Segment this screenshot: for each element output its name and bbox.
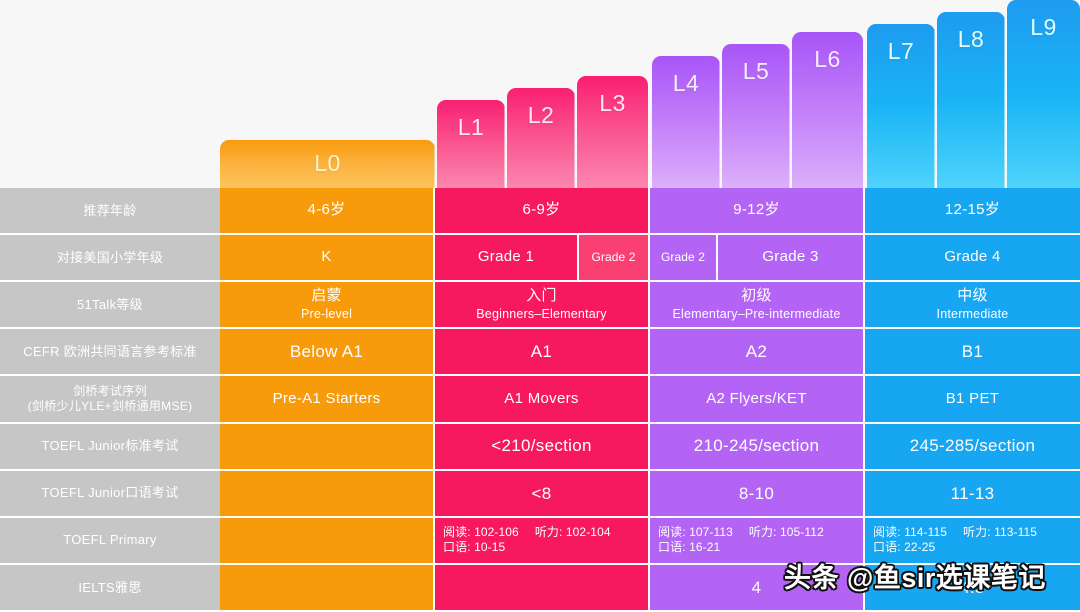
bar-l0: L0	[220, 140, 435, 188]
table-cell: Grade 3	[718, 235, 865, 282]
bar-label: L5	[743, 58, 770, 85]
bar-label: L3	[599, 90, 626, 117]
cell-subvalue: Beginners–Elementary	[476, 307, 606, 323]
table-cell: 245-285/section	[865, 424, 1080, 471]
row-cells: 44.5	[220, 565, 1080, 612]
row-label: 对接美国小学年级	[0, 235, 220, 282]
table-row: TOEFL Junior口语考试<88-1011-13	[0, 471, 1080, 518]
cell-value: 中级	[957, 287, 988, 306]
bar-label: L4	[673, 70, 700, 97]
bar-l7: L7	[867, 24, 935, 188]
row-label: IELTS雅思	[0, 565, 220, 612]
toefl-primary-speaking: 口语: 16-21	[658, 540, 720, 555]
cell-value: 11-13	[951, 483, 995, 504]
table-cell: 阅读: 114-115听力: 113-115口语: 22-25	[865, 518, 1080, 565]
cell-subvalue: Pre-level	[301, 307, 352, 323]
row-cells: <88-1011-13	[220, 471, 1080, 518]
bar-label: L1	[458, 114, 485, 141]
bar-label: L6	[814, 46, 841, 73]
toefl-primary-listening: 听力: 105-112	[749, 525, 824, 540]
table-cell: A2	[650, 329, 865, 376]
row-label: 推荐年龄	[0, 188, 220, 235]
row-cells: 4-6岁6-9岁9-12岁12-15岁	[220, 188, 1080, 235]
cell-subvalue: Elementary–Pre-intermediate	[673, 307, 841, 323]
level-comparison-infographic: L0L1L2L3L4L5L6L7L8L9 推荐年龄4-6岁6-9岁9-12岁12…	[0, 0, 1080, 612]
row-label: TOEFL Junior口语考试	[0, 471, 220, 518]
bar-label: L0	[314, 150, 341, 177]
toefl-primary-reading: 阅读: 107-113	[658, 525, 733, 540]
table-cell: 中级Intermediate	[865, 282, 1080, 329]
table-cell: 阅读: 107-113听力: 105-112口语: 16-21	[650, 518, 865, 565]
row-label-line: (剑桥少儿YLE+剑桥通用MSE)	[28, 399, 193, 414]
table-row: TOEFL Junior标准考试<210/section210-245/sect…	[0, 424, 1080, 471]
row-cells: 阅读: 102-106听力: 102-104口语: 10-15阅读: 107-1…	[220, 518, 1080, 565]
table-row: 剑桥考试序列(剑桥少儿YLE+剑桥通用MSE)Pre-A1 StartersA1…	[0, 376, 1080, 423]
table-cell: Grade 2	[579, 235, 650, 282]
table-cell: Grade 2	[650, 235, 718, 282]
table-cell: 8-10	[650, 471, 865, 518]
table-row: IELTS雅思44.5	[0, 565, 1080, 612]
bar-l2: L2	[507, 88, 575, 188]
row-label-line: 对接美国小学年级	[57, 250, 163, 266]
table-row: TOEFL Primary阅读: 102-106听力: 102-104口语: 1…	[0, 518, 1080, 565]
table-cell: A1 Movers	[435, 376, 650, 423]
row-label-line: IELTS雅思	[78, 580, 141, 596]
toefl-primary-reading: 阅读: 114-115	[873, 525, 947, 540]
cell-value: A1 Movers	[504, 390, 578, 409]
cell-value: 4.5	[960, 577, 985, 598]
table-cell: 4.5	[865, 565, 1080, 612]
cell-value: A2 Flyers/KET	[706, 390, 807, 409]
row-label-line: 51Talk等级	[77, 297, 143, 313]
table-cell: 启蒙Pre-level	[220, 282, 435, 329]
table-cell: 11-13	[865, 471, 1080, 518]
table-cell	[220, 565, 435, 612]
cell-value: Below A1	[290, 341, 363, 362]
row-cells: Below A1A1A2B1	[220, 329, 1080, 376]
cell-value: Pre-A1 Starters	[273, 390, 381, 409]
row-label-line: 推荐年龄	[83, 203, 136, 219]
cell-value: 8-10	[739, 483, 774, 504]
cell-value: 9-12岁	[733, 201, 780, 220]
table-cell: Grade 4	[865, 235, 1080, 282]
table-cell: A1	[435, 329, 650, 376]
table-row: CEFR 欧洲共同语言参考标准Below A1A1A2B1	[0, 329, 1080, 376]
row-cells: Pre-A1 StartersA1 MoversA2 Flyers/KETB1 …	[220, 376, 1080, 423]
cell-value: 入门	[526, 287, 557, 306]
bar-l9: L9	[1007, 0, 1080, 188]
table-cell: 4-6岁	[220, 188, 435, 235]
bar-l4: L4	[652, 56, 720, 188]
row-label-line: TOEFL Junior口语考试	[42, 485, 179, 501]
cell-value: Grade 2	[661, 250, 705, 265]
table-cell: Pre-A1 Starters	[220, 376, 435, 423]
cell-value: 4-6岁	[308, 201, 346, 220]
table-cell: A2 Flyers/KET	[650, 376, 865, 423]
row-label-line: CEFR 欧洲共同语言参考标准	[23, 344, 197, 360]
row-cells: 启蒙Pre-level入门Beginners–Elementary初级Eleme…	[220, 282, 1080, 329]
bar-label: L2	[528, 102, 555, 129]
table-cell: 12-15岁	[865, 188, 1080, 235]
table-cell: <210/section	[435, 424, 650, 471]
bar-label: L9	[1030, 14, 1057, 41]
cell-value: <8	[532, 483, 552, 504]
table-cell: 6-9岁	[435, 188, 650, 235]
table-row: 对接美国小学年级KGrade 1Grade 2Grade 2Grade 3Gra…	[0, 235, 1080, 282]
row-label: TOEFL Junior标准考试	[0, 424, 220, 471]
level-comparison-table: 推荐年龄4-6岁6-9岁9-12岁12-15岁对接美国小学年级KGrade 1G…	[0, 188, 1080, 612]
row-label: TOEFL Primary	[0, 518, 220, 565]
cell-value: 6-9岁	[523, 201, 561, 220]
table-cell: Grade 1	[435, 235, 579, 282]
table-cell: 初级Elementary–Pre-intermediate	[650, 282, 865, 329]
bar-l5: L5	[722, 44, 790, 188]
bar-l6: L6	[792, 32, 863, 188]
cell-value: 210-245/section	[694, 435, 819, 456]
table-row: 51Talk等级启蒙Pre-level入门Beginners–Elementar…	[0, 282, 1080, 329]
row-cells: KGrade 1Grade 2Grade 2Grade 3Grade 4	[220, 235, 1080, 282]
cell-subvalue: Intermediate	[937, 307, 1009, 323]
table-cell: B1	[865, 329, 1080, 376]
cell-value: 启蒙	[311, 287, 342, 306]
table-cell: Below A1	[220, 329, 435, 376]
table-cell: 4	[650, 565, 865, 612]
cell-value: 初级	[741, 287, 772, 306]
table-cell: K	[220, 235, 435, 282]
bar-label: L7	[888, 38, 915, 65]
toefl-primary-speaking: 口语: 22-25	[873, 540, 935, 555]
row-label-line: TOEFL Junior标准考试	[42, 438, 179, 454]
cell-value: K	[321, 248, 331, 267]
cell-value: Grade 3	[762, 248, 818, 267]
toefl-primary-speaking: 口语: 10-15	[443, 540, 505, 555]
table-cell: 210-245/section	[650, 424, 865, 471]
row-label-line: 剑桥考试序列	[28, 384, 193, 399]
cell-value: Grade 4	[944, 248, 1000, 267]
table-cell: 9-12岁	[650, 188, 865, 235]
table-cell	[220, 471, 435, 518]
table-cell: 入门Beginners–Elementary	[435, 282, 650, 329]
row-label: 剑桥考试序列(剑桥少儿YLE+剑桥通用MSE)	[0, 376, 220, 423]
table-cell: B1 PET	[865, 376, 1080, 423]
cell-value: <210/section	[491, 435, 591, 456]
cell-value: 12-15岁	[945, 201, 1000, 220]
toefl-primary-reading: 阅读: 102-106	[443, 525, 519, 540]
row-cells: <210/section210-245/section245-285/secti…	[220, 424, 1080, 471]
row-label: CEFR 欧洲共同语言参考标准	[0, 329, 220, 376]
cell-value: Grade 1	[478, 248, 534, 267]
bar-l1: L1	[437, 100, 505, 188]
cell-value: B1 PET	[946, 390, 1000, 409]
bar-label: L8	[958, 26, 985, 53]
table-cell	[220, 518, 435, 565]
cell-value: A1	[531, 341, 552, 362]
toefl-primary-listening: 听力: 113-115	[963, 525, 1037, 540]
table-cell: <8	[435, 471, 650, 518]
cell-value: A2	[746, 341, 767, 362]
bar-l8: L8	[937, 12, 1005, 188]
table-row: 推荐年龄4-6岁6-9岁9-12岁12-15岁	[0, 188, 1080, 235]
cell-value: 245-285/section	[910, 435, 1035, 456]
cell-value: 4	[752, 577, 762, 598]
row-label: 51Talk等级	[0, 282, 220, 329]
table-cell: 阅读: 102-106听力: 102-104口语: 10-15	[435, 518, 650, 565]
toefl-primary-listening: 听力: 102-104	[535, 525, 611, 540]
table-cell	[220, 424, 435, 471]
cell-value: Grade 2	[591, 250, 635, 265]
level-bar-chart: L0L1L2L3L4L5L6L7L8L9	[0, 0, 1080, 188]
table-cell	[435, 565, 650, 612]
bar-l3: L3	[577, 76, 648, 188]
row-label-line: TOEFL Primary	[63, 532, 156, 548]
cell-value: B1	[962, 341, 983, 362]
